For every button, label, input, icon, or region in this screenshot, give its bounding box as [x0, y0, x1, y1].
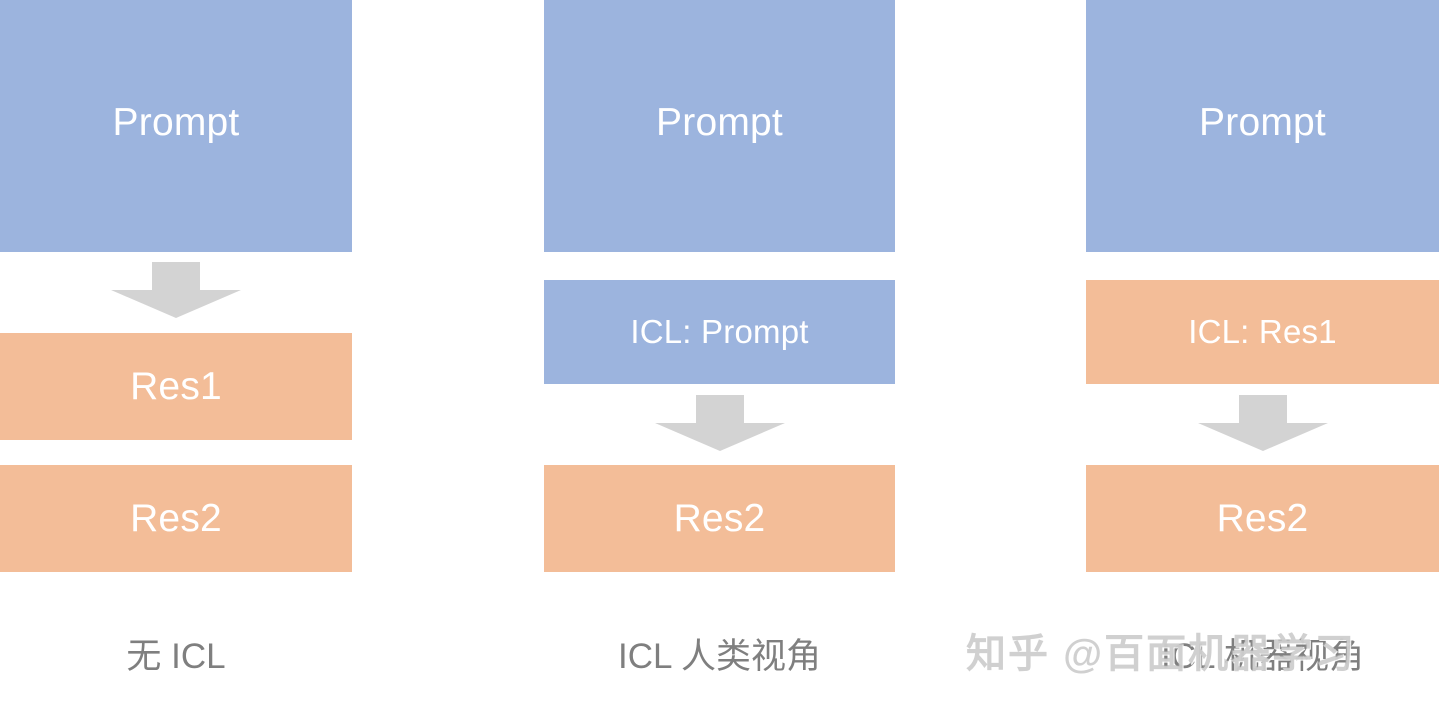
- box-label: Prompt: [656, 101, 783, 145]
- box-icl-prompt-col2: ICL: Prompt: [544, 280, 895, 384]
- box-res2-col2: Res2: [544, 465, 895, 572]
- box-label: Prompt: [113, 101, 240, 145]
- down-arrow-icon: [1198, 395, 1328, 451]
- box-res2-col3: Res2: [1086, 465, 1439, 572]
- box-prompt-col1: Prompt: [0, 0, 352, 252]
- box-res2-col1: Res2: [0, 465, 352, 572]
- box-label: ICL: Prompt: [630, 313, 808, 351]
- box-label: Res2: [674, 497, 766, 541]
- box-label: ICL: Res1: [1188, 313, 1337, 351]
- down-arrow-icon: [111, 262, 241, 318]
- diagram-column-icl-machine-view: Prompt ICL: Res1 Res2: [1086, 0, 1439, 707]
- box-prompt-col3: Prompt: [1086, 0, 1439, 252]
- box-label: Res2: [130, 497, 222, 541]
- caption-icl-human-view: ICL 人类视角: [544, 622, 895, 684]
- box-label: Res2: [1217, 497, 1309, 541]
- caption-no-icl: 无 ICL: [0, 622, 352, 684]
- box-res1-col1: Res1: [0, 333, 352, 440]
- diagram-column-icl-human-view: Prompt ICL: Prompt Res2: [544, 0, 895, 707]
- down-arrow-icon: [655, 395, 785, 451]
- box-label: Prompt: [1199, 101, 1326, 145]
- box-prompt-col2: Prompt: [544, 0, 895, 252]
- box-label: Res1: [130, 365, 222, 409]
- caption-icl-machine-view: ICL 机器视角: [1086, 622, 1439, 684]
- diagram-canvas: Prompt Res1 Res2 Prompt ICL: Prompt Res2: [0, 0, 1440, 707]
- box-icl-res1-col3: ICL: Res1: [1086, 280, 1439, 384]
- diagram-column-no-icl: Prompt Res1 Res2: [0, 0, 352, 707]
